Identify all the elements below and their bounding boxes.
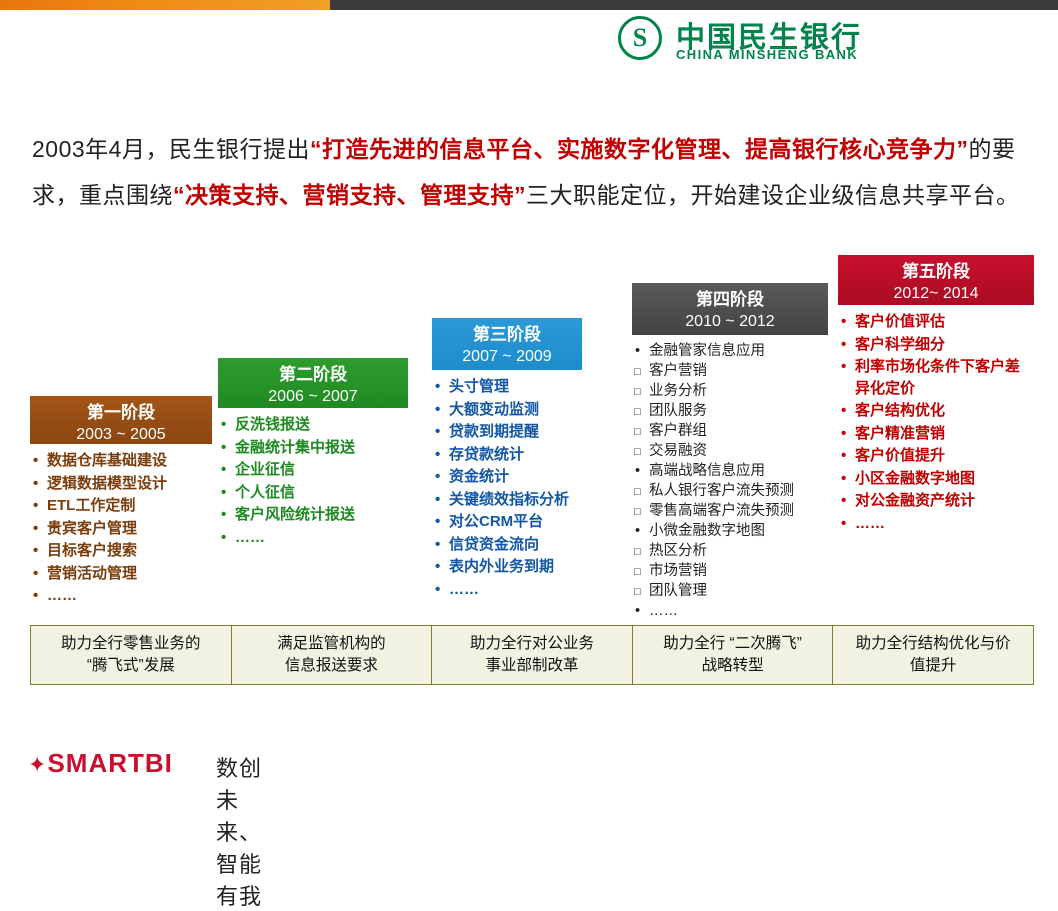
list-item: 交易融资 [632,441,828,461]
outcome-4-line1: 助力全行 “二次腾飞” [663,635,802,652]
stage-2-items: 反洗钱报送 金融统计集中报送 企业征信 个人征信 客户风险统计报送 …… [218,408,408,549]
top-accent-bar [0,0,1058,10]
stage-3-header: 第三阶段 2007 ~ 2009 [432,318,582,370]
intro-paragraph: 2003年4月，民生银行提出“打造先进的信息平台、实施数字化管理、提高银行核心竞… [32,126,1032,218]
list-item: 贵宾客户管理 [30,518,212,541]
stage-2-title: 第二阶段 [218,363,408,386]
intro-text-part1: 2003年4月，民生银行提出 [32,136,310,162]
list-item: 存贷款统计 [432,444,582,467]
list-item: 客户群组 [632,421,828,441]
outcome-5-line1: 助力全行结构优化与价 [856,635,1011,652]
list-item: 对公金融资产统计 [838,490,1034,513]
stage-1-title: 第一阶段 [30,401,212,424]
stage-1-years: 2003 ~ 2005 [30,424,212,446]
list-item: 客户价值提升 [838,445,1034,468]
stage-block-3: 第三阶段 2007 ~ 2009 头寸管理 大额变动监测 贷款到期提醒 存贷款统… [432,318,582,601]
list-item: 金融统计集中报送 [218,437,408,460]
list-item: 头寸管理 [432,376,582,399]
list-item: 客户结构优化 [838,400,1034,423]
outcome-box-1: 助力全行零售业务的“腾飞式”发展 [30,625,232,685]
list-item: …… [30,585,212,608]
stage-2-years: 2006 ~ 2007 [218,386,408,408]
stage-5-header: 第五阶段 2012~ 2014 [838,255,1034,305]
list-item: 团队服务 [632,401,828,421]
list-item: 小微金融数字地图 [632,521,828,541]
list-item: 客户精准营销 [838,423,1034,446]
list-item: 信贷资金流向 [432,534,582,557]
list-item: …… [632,601,828,621]
intro-highlight-1: “打造先进的信息平台、实施数字化管理、提高银行核心竞争力” [310,136,969,162]
list-item: 企业征信 [218,459,408,482]
list-item: 客户科学细分 [838,334,1034,357]
stage-2-header: 第二阶段 2006 ~ 2007 [218,358,408,408]
stage-1-items: 数据仓库基础建设 逻辑数据模型设计 ETL工作定制 贵宾客户管理 目标客户搜索 … [30,444,212,608]
stage-3-items: 头寸管理 大额变动监测 贷款到期提醒 存贷款统计 资金统计 关键绩效指标分析 对… [432,370,582,601]
list-item: 目标客户搜索 [30,540,212,563]
list-item: 大额变动监测 [432,399,582,422]
bank-logo: 中国民生银行 CHINA MINSHENG BANK [618,14,1038,64]
outcome-box-3: 助力全行对公业务事业部制改革 [432,625,633,685]
top-bar-orange-segment [0,0,330,10]
stage-3-years: 2007 ~ 2009 [432,346,582,368]
list-item: …… [838,513,1034,536]
smartbi-wordmark: SMARTBI [47,748,172,778]
outcome-row: 助力全行零售业务的“腾飞式”发展 满足监管机构的信息报送要求 助力全行对公业务事… [30,625,1034,685]
outcome-4-line2: 战略转型 [702,657,764,674]
outcome-5-line2: 值提升 [910,657,957,674]
list-item: 客户风险统计报送 [218,504,408,527]
minsheng-logo-icon [618,16,662,60]
list-item: 数据仓库基础建设 [30,450,212,473]
list-item: 团队管理 [632,581,828,601]
list-item: 市场营销 [632,561,828,581]
list-item: 私人银行客户流失预测 [632,481,828,501]
bank-name-en: CHINA MINSHENG BANK [676,47,858,62]
list-item: 零售高端客户流失预测 [632,501,828,521]
list-item: 热区分析 [632,541,828,561]
outcome-box-5: 助力全行结构优化与价值提升 [833,625,1034,685]
stage-4-years: 2010 ~ 2012 [632,311,828,333]
intro-highlight-2: “决策支持、营销支持、管理支持” [173,182,526,208]
outcome-3-line2: 事业部制改革 [485,657,578,674]
outcome-1-line1: 助力全行零售业务的 [61,635,201,652]
stage-block-1: 第一阶段 2003 ~ 2005 数据仓库基础建设 逻辑数据模型设计 ETL工作… [30,396,212,608]
outcome-3-line1: 助力全行对公业务 [470,635,594,652]
stage-4-items: 金融管家信息应用 客户营销 业务分析 团队服务 客户群组 交易融资 高端战略信息… [632,335,828,621]
list-item: 逻辑数据模型设计 [30,473,212,496]
list-item: 业务分析 [632,381,828,401]
outcome-2-line2: 信息报送要求 [285,657,378,674]
list-item: 金融管家信息应用 [632,341,828,361]
list-item: 表内外业务到期 [432,556,582,579]
spark-icon: ✦ [28,752,47,777]
stage-block-4: 第四阶段 2010 ~ 2012 金融管家信息应用 客户营销 业务分析 团队服务… [632,283,828,621]
outcome-1-line2: “腾飞式”发展 [87,657,175,674]
footer-slogan: 数创未来、智能有我 [216,751,262,911]
smartbi-logo: ✦SMARTBI [28,748,173,779]
stage-4-header: 第四阶段 2010 ~ 2012 [632,283,828,335]
list-item: 客户价值评估 [838,311,1034,334]
stage-3-title: 第三阶段 [432,323,582,346]
list-item: …… [218,527,408,550]
list-item: 小区金融数字地图 [838,468,1034,491]
stage-5-years: 2012~ 2014 [838,283,1034,305]
stage-block-2: 第二阶段 2006 ~ 2007 反洗钱报送 金融统计集中报送 企业征信 个人征… [218,358,408,549]
outcome-box-2: 满足监管机构的信息报送要求 [232,625,433,685]
list-item: 高端战略信息应用 [632,461,828,481]
top-bar-dark-segment [330,0,1058,10]
stage-5-items: 客户价值评估 客户科学细分 利率市场化条件下客户差异化定价 客户结构优化 客户精… [838,305,1034,535]
stage-1-header: 第一阶段 2003 ~ 2005 [30,396,212,444]
list-item: 客户营销 [632,361,828,381]
list-item: 资金统计 [432,466,582,489]
list-item: 关键绩效指标分析 [432,489,582,512]
list-item: 营销活动管理 [30,563,212,586]
list-item: 利率市场化条件下客户差异化定价 [838,356,1030,400]
intro-text-part3: 三大职能定位，开始建设企业级信息共享平台。 [526,182,1020,208]
list-item: …… [432,579,582,602]
stage-4-title: 第四阶段 [632,288,828,311]
list-item: 对公CRM平台 [432,511,582,534]
stage-block-5: 第五阶段 2012~ 2014 客户价值评估 客户科学细分 利率市场化条件下客户… [838,255,1034,535]
list-item: ETL工作定制 [30,495,212,518]
list-item: 反洗钱报送 [218,414,408,437]
list-item: 贷款到期提醒 [432,421,582,444]
outcome-box-4: 助力全行 “二次腾飞”战略转型 [633,625,834,685]
list-item: 个人征信 [218,482,408,505]
stage-5-title: 第五阶段 [838,260,1034,283]
outcome-2-line1: 满足监管机构的 [277,635,386,652]
